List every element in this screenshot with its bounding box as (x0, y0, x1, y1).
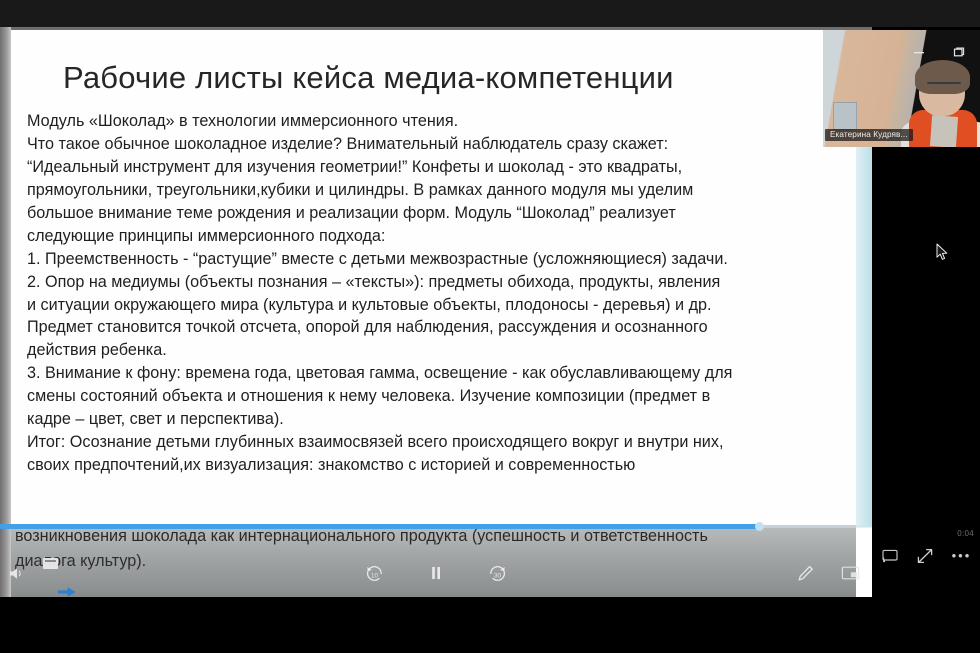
blue-arrow-cursor (57, 584, 77, 605)
slide-body-line: своих предпочтений,их визуализация: знак… (27, 454, 842, 476)
rewind-seconds-label: 10 (371, 573, 379, 580)
outer-control-row: ••• (872, 547, 980, 565)
slide-body-line: Предмет становится точкой отсчета, опоро… (27, 316, 842, 338)
slide-body-line: 2. Опор на медиумы (объекты познания – «… (27, 271, 842, 293)
window-bottom-chrome (0, 597, 980, 653)
forward-30-button[interactable]: 30 (487, 563, 508, 583)
participant-name-label: Екатерина Кудряв... (825, 129, 913, 141)
seek-thumb[interactable] (755, 522, 764, 531)
slide-body-line: следующие принципы иммерсионного подхода… (27, 225, 842, 247)
slide-body-line: большое внимание теме рождения и реализа… (27, 202, 842, 224)
player-center-controls: 10 30 (0, 549, 872, 597)
slide-body-line: “Идеальный инструмент для изучения геоме… (27, 156, 842, 178)
slide-body-line: 3. Внимание к фону: времена года, цветов… (27, 362, 842, 384)
participant-collar (930, 115, 958, 147)
slide-body-line: и ситуации окружающего мира (культура и … (27, 294, 842, 316)
shared-screen-region: Рабочие листы кейса медиа-компетенции Мо… (0, 27, 872, 597)
fullscreen-icon[interactable] (916, 547, 934, 565)
annotate-pencil-icon[interactable] (796, 564, 815, 583)
presentation-slide: Рабочие листы кейса медиа-компетенции Мо… (11, 30, 856, 525)
slide-body-line: 1. Преемственность - “растущие” вместе с… (27, 248, 842, 270)
player-control-bar: 10 30 (0, 549, 872, 597)
slide-body-line: Что такое обычное шоколадное изделие? Вн… (27, 133, 842, 155)
slide-body-line: смены состояний объекта и отношения к не… (27, 385, 842, 407)
seek-bar[interactable] (0, 524, 872, 529)
video-background-object (833, 102, 857, 130)
slide-body-line: прямоугольники, треугольники,кубики и ци… (27, 179, 842, 201)
small-window-thumbnail[interactable] (43, 558, 58, 569)
window-controls (899, 38, 980, 65)
picture-in-picture-icon[interactable] (841, 565, 860, 581)
minimize-button[interactable] (899, 39, 939, 65)
slide-body-line: Модуль «Шоколад» в технологии иммерсионн… (27, 110, 842, 132)
video-playback-screen: Рабочие листы кейса медиа-компетенции Мо… (0, 0, 980, 653)
player-right-controls (796, 549, 860, 597)
mouse-cursor (936, 243, 949, 267)
slide-body-line: Итог: Осознание детьми глубинных взаимос… (27, 431, 842, 453)
slide-body-line: кадре – цвет, свет и перспектива). (27, 408, 842, 430)
window-top-chrome (0, 0, 980, 27)
slide-body: Модуль «Шоколад» в технологии иммерсионн… (27, 110, 842, 477)
forward-seconds-label: 30 (494, 573, 502, 580)
slide-title: Рабочие листы кейса медиа-компетенции (63, 60, 842, 96)
restore-button[interactable] (939, 39, 979, 65)
rewind-10-button[interactable]: 10 (364, 563, 385, 583)
more-options-icon[interactable]: ••• (952, 553, 972, 559)
slide-body-line: действия ребенка. (27, 339, 842, 361)
slide-left-edge (0, 27, 11, 597)
seek-progress-fill (0, 524, 759, 529)
cast-icon[interactable] (881, 548, 899, 564)
elapsed-time-label: 0:04 (957, 529, 974, 538)
outer-player-controls: 0:04 ••• (872, 527, 980, 597)
glasses-icon (927, 82, 961, 92)
pause-button[interactable] (429, 564, 443, 582)
